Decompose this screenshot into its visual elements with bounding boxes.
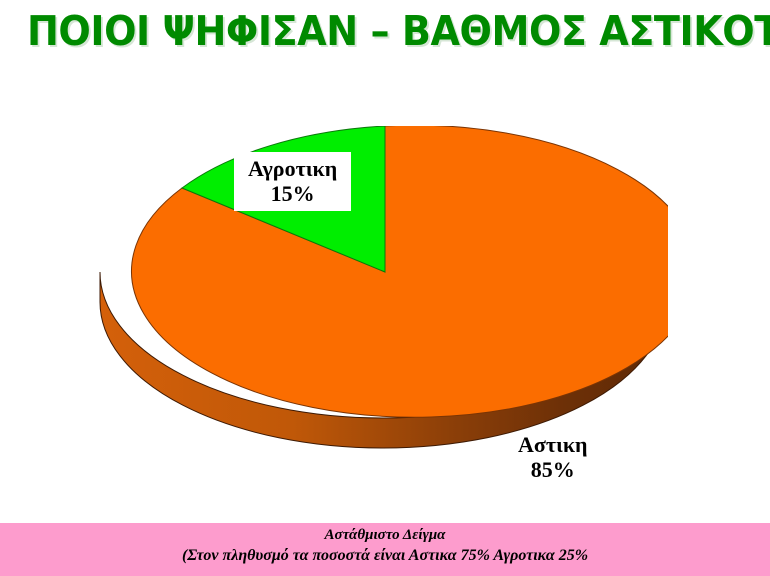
pie-label-urban-name: Αστικη: [518, 432, 588, 457]
footer-line-2: (Στον πληθυσμό τα ποσοστά είναι Αστικα 7…: [0, 545, 770, 566]
pie-label-urban-percent: 85%: [518, 457, 588, 482]
pie-chart-svg: [98, 126, 668, 474]
footer-banner: Αστάθμιστο Δείγμα (Στον πληθυσμό τα ποσο…: [0, 523, 770, 576]
pie-chart: [98, 126, 668, 474]
page-title: ΠΟΙΟΙ ΨΗΦΙΣΑΝ – ΒΑΘΜΟΣ ΑΣΤΙΚΟΤΗΤΑΣ: [27, 8, 743, 54]
slide-canvas: ΠΟΙΟΙ ΨΗΦΙΣΑΝ – ΒΑΘΜΟΣ ΑΣΤΙΚΟΤΗΤΑΣ Αγροτ…: [0, 0, 770, 576]
pie-label-rural: Αγροτικη 15%: [234, 152, 351, 211]
footer-line-1: Αστάθμιστο Δείγμα: [0, 523, 770, 545]
pie-label-rural-percent: 15%: [248, 181, 337, 206]
pie-label-rural-name: Αγροτικη: [248, 156, 337, 181]
pie-label-urban: Αστικη 85%: [518, 432, 588, 482]
